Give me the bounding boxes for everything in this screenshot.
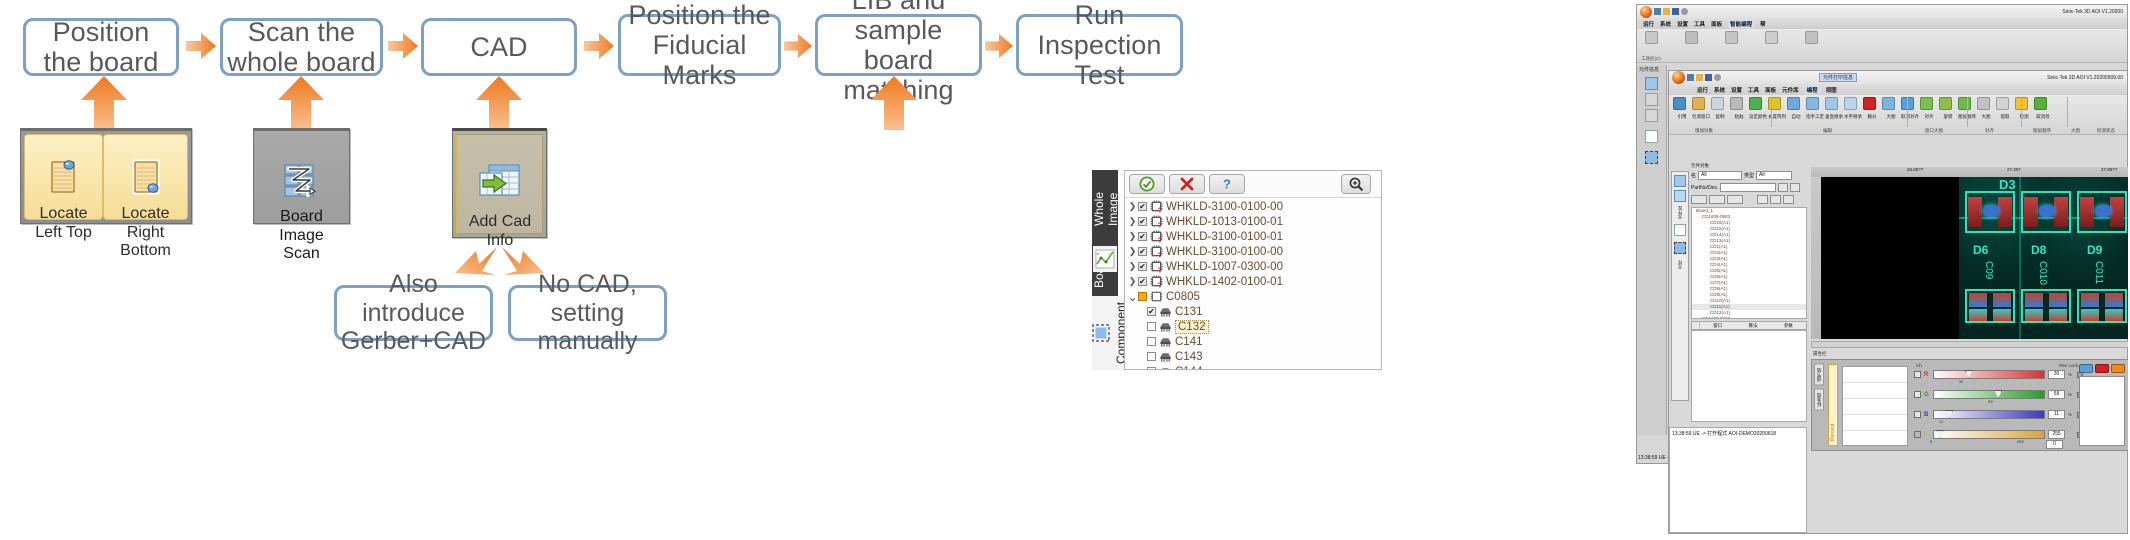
- locate-left-top-label: Locate Left Top: [35, 205, 92, 241]
- vtab-whole-image[interactable]: Whole Image: [1092, 170, 1120, 248]
- front-ribbon-label-2: 复制: [1711, 114, 1729, 120]
- ribbon-icon-back-3[interactable]: [1765, 31, 1778, 44]
- back-panel-icon-0[interactable]: [1645, 77, 1658, 90]
- reject-all-button[interactable]: [1169, 174, 1205, 194]
- note-pin-top-left-icon: [49, 141, 79, 200]
- rgb-channel-knob-label-G: 59: [1988, 399, 1992, 404]
- front-window-tab-chip[interactable]: 元件打印信息: [1819, 73, 1857, 82]
- color-panel-header-label: 属性栏: [1813, 351, 1827, 357]
- rgb-channel-unit-G: %: [2068, 392, 2074, 397]
- ribbon-separator-4: [2021, 97, 2022, 127]
- filter-label-0: 名: [1691, 172, 1696, 179]
- front-menu-item-2[interactable]: 设置: [1731, 86, 1742, 94]
- search-filter-icon[interactable]: [1790, 183, 1800, 192]
- pcb-label-c010: C010: [2037, 261, 2048, 285]
- rgb-channel-row-G: G59%: [1914, 390, 2083, 399]
- back-menu-item-3[interactable]: 工具: [1694, 20, 1705, 28]
- pcb-component-top-3: [2077, 191, 2127, 233]
- board-image-scan-panel: Board Image Scan: [253, 128, 350, 224]
- front-save-icon[interactable]: [1687, 74, 1694, 81]
- aoi-software-screenshot: Sinic-Tek 3D AOI V1.20200 运行 系统 设置 工具 面板…: [1636, 4, 2128, 534]
- front-ribbon-group-2: 窗口大图: [1925, 128, 1943, 134]
- settings-icon[interactable]: [1681, 8, 1688, 15]
- open-folder-icon[interactable]: [1663, 8, 1670, 15]
- front-component-tree[interactable]: Board_1 CD1608-0603 CD16(A1)CD15(A1)CD14…: [1691, 207, 1807, 319]
- rgb-channel-slider-I[interactable]: [1933, 430, 2045, 439]
- ribbon-icon-back-1[interactable]: [1685, 31, 1698, 44]
- front-strip-icon-component[interactable]: [1674, 242, 1686, 254]
- callout-no-cad-manual[interactable]: No CAD, setting manually: [508, 285, 667, 341]
- front-ribbon-icon-1[interactable]: [1692, 97, 1705, 110]
- back-menu-item-0[interactable]: 运行: [1643, 20, 1654, 28]
- ribbon-separator-1: [1771, 97, 1772, 127]
- front-zoomout-icon[interactable]: [1783, 195, 1794, 204]
- rgb-vtab-0[interactable]: 调节值: [1814, 364, 1824, 386]
- front-menu-item-3[interactable]: 工具: [1748, 86, 1759, 94]
- rgb-channel-slider-B[interactable]: [1933, 410, 2045, 419]
- svg-text:?: ?: [1158, 250, 1163, 258]
- svg-text:?: ?: [1158, 235, 1163, 243]
- table-header-1: 算法: [1735, 323, 1770, 329]
- partno-input[interactable]: [1720, 183, 1776, 192]
- image-view-ruler-left: [1811, 177, 1821, 339]
- flow-step-cad[interactable]: CAD: [421, 18, 577, 76]
- flow-step-run-inspection-test[interactable]: Run Inspection Test: [1016, 14, 1183, 76]
- image-view-hscrollbar[interactable]: [1811, 341, 2128, 348]
- front-filter-row-2: PartNo/Des.: [1691, 183, 1800, 192]
- rgb-channel-name-R: R: [1924, 372, 1930, 378]
- rgb-delete-button[interactable]: [2095, 364, 2109, 373]
- rgb-slider-knob-I[interactable]: [1936, 430, 1944, 438]
- front-log-box: 13:38:59 UE -> 打开程式 AOI-DEMO20200618: [1669, 427, 1807, 533]
- component-library-tree: ? ❯✔ ? WHKLD-3100-0100-00❯✔: [1124, 170, 1382, 370]
- rgb-percent-tab[interactable]: Percent: [1828, 364, 1838, 446]
- front-tree-group-1-label: CD1608-0603: [1702, 214, 1730, 219]
- pcb-component-top-2: [2021, 191, 2071, 233]
- callout-gerber-cad[interactable]: Also introduce Gerber+CAD: [334, 285, 493, 341]
- front-ribbon-group-1: 编辑: [1823, 128, 1832, 134]
- accept-all-button[interactable]: [1129, 174, 1165, 194]
- rgb-slider-knob-B[interactable]: [1945, 410, 1953, 418]
- front-window-product-title: Sinic-Tek 3D AOI V1.20200509.00: [2047, 75, 2123, 81]
- partno-label: PartNo/Des.: [1691, 185, 1718, 191]
- pcb-component-bottom-3: [2077, 289, 2127, 323]
- filter-select-1[interactable]: All: [1756, 171, 1792, 180]
- tree-row[interactable]: ❯✔ ? WHKLD-3100-0100-01: [1125, 229, 1381, 244]
- flow-step-position-the-board[interactable]: Position the board: [23, 18, 179, 76]
- front-window-ribbon: 引用包测窗口复制粘贴设定颜色长度阵列自动指手工定义垂直继承水平继承删分大图取消对…: [1669, 95, 2127, 135]
- rgb-right-buttons: [2079, 364, 2125, 373]
- front-ribbon-label-row: 引用包测窗口复制粘贴设定颜色长度阵列自动指手工定义垂直继承水平继承删分大图取消对…: [1673, 114, 2052, 120]
- callout-arrow-tree-panel: [871, 76, 917, 130]
- chip-unknown-icon: ?: [1150, 230, 1163, 243]
- tree-row[interactable]: ⌄ C0805: [1125, 289, 1381, 304]
- rgb-color-panel: 调节值 标准值 Percent Ch Rev Lock R30%30G59%59…: [1811, 359, 2128, 451]
- rgb-channel-knob-label-B: 11: [1939, 419, 1943, 424]
- chevron-right-icon[interactable]: ❯: [1127, 261, 1138, 272]
- callout-arrow-locate-panel: [81, 76, 127, 130]
- table-header-2: 参数: [1771, 323, 1806, 329]
- tree-row[interactable]: C143: [1125, 349, 1381, 364]
- callout-arrow-cad-panel: [476, 76, 522, 130]
- front-window-menubar: 运行 系统 设置 工具 面板 元件库 编程 视图: [1669, 84, 2127, 95]
- tree-row-label: WHKLD-1007-0300-00: [1166, 261, 1283, 273]
- grid-import-arrow-icon: [479, 145, 521, 208]
- front-ribbon-icon-0[interactable]: [1673, 97, 1686, 110]
- front-ribbon-label-17: 提取: [1996, 114, 2014, 120]
- tree-row-label: WHKLD-3100-0100-01: [1166, 231, 1283, 243]
- front-zoomin-icon[interactable]: [1770, 195, 1781, 204]
- front-ribbon-label-11: 大图: [1882, 114, 1900, 120]
- front-tree-group-2[interactable]: CC1608-0603: [1692, 316, 1806, 319]
- locate-right-bottom-button[interactable]: Locate Right Bottom: [103, 134, 188, 220]
- component-selection-icon: [1092, 324, 1110, 342]
- tree-row-label: WHKLD-1013-0100-01: [1166, 216, 1283, 228]
- back-window-left-panel: 元件信息: [1637, 65, 1667, 435]
- back-panel-label: 元件信息: [1637, 65, 1666, 74]
- front-ribbon-icon-6[interactable]: [1787, 97, 1800, 110]
- save-icon[interactable]: [1654, 8, 1661, 15]
- flow-step-lib-and-sample-board-matching[interactable]: LIB and sample board matching: [815, 14, 982, 76]
- chip-unknown-icon: ?: [1150, 260, 1163, 273]
- flow-arrow-4: [784, 33, 812, 59]
- pcb-component-top-1: [1965, 191, 2015, 233]
- front-ribbon-group-0: 增加对象: [1695, 128, 1713, 134]
- rgb-channel-row-B: B11%: [1914, 410, 2083, 419]
- svg-text:?: ?: [1158, 280, 1163, 288]
- front-ribbon-label-7: 指手工定义: [1806, 114, 1824, 120]
- tree-row[interactable]: C144: [1125, 364, 1381, 370]
- ribbon-icon-back-0[interactable]: [1645, 31, 1658, 44]
- front-ribbon-label-0: 引用: [1673, 114, 1691, 120]
- tree-row[interactable]: ✔ C131: [1125, 304, 1381, 319]
- flow-arrow-1: [186, 33, 216, 59]
- tree-toolbar: ?: [1125, 171, 1381, 198]
- vtab-whole-image-label: Whole Image: [1092, 176, 1120, 242]
- component-icon: [1159, 321, 1172, 333]
- tree-row-checkbox[interactable]: ✔: [1138, 247, 1147, 256]
- chevron-right-icon[interactable]: ❯: [1127, 231, 1138, 242]
- front-strip-tab-label-1: 元件库: [1677, 206, 1683, 220]
- back-panel-chart-icon[interactable]: [1645, 130, 1658, 143]
- tree-row-checkbox[interactable]: ✔: [1138, 202, 1147, 211]
- component-library-widget: Whole Image Board Component: [1092, 170, 1382, 370]
- rgb-channel-unit-B: %: [2068, 412, 2074, 417]
- ruler-tick-1: 27.30?: [2007, 167, 2021, 172]
- pcb-label-d3: D3: [1999, 177, 2016, 192]
- locate-board-corners-panel: Locate Left Top Locate Right Bottom: [20, 128, 192, 224]
- rgb-channel-slider-G[interactable]: [1933, 390, 2045, 399]
- rgb-channel-row-R: R30%: [1914, 370, 2083, 379]
- front-strip-tab-label-2: 元件: [1677, 260, 1683, 269]
- front-menu-item-6-selected[interactable]: 编程: [1805, 86, 1820, 94]
- pcb-image[interactable]: D3 D6 D8 D9 C09 C010 C011: [1959, 177, 2128, 339]
- front-filter-row-1: 名 All 类型 All: [1691, 171, 1792, 180]
- pcb-label-d9: D9: [2087, 243, 2102, 257]
- front-strip-icon-chart[interactable]: [1674, 224, 1686, 236]
- front-menu-item-5[interactable]: 元件库: [1782, 86, 1799, 94]
- rgb-channel-value-I[interactable]: 255: [2048, 430, 2065, 439]
- component-icon: [1159, 366, 1172, 371]
- rgb-add-button[interactable]: [2111, 364, 2125, 373]
- tree-row-label: C143: [1175, 351, 1203, 363]
- add-cad-info-panel: Add Cad Info: [452, 128, 547, 238]
- filter-select-0[interactable]: All: [1698, 171, 1742, 180]
- front-ribbon-label-18: 检测: [2015, 114, 2033, 120]
- locate-left-top-button[interactable]: Locate Left Top: [24, 134, 103, 220]
- chip-unknown-icon: ?: [1150, 275, 1163, 288]
- back-ribbon-group-label: 工具栏(C): [1641, 56, 1661, 62]
- tree-row-checkbox[interactable]: [1147, 367, 1156, 370]
- chevron-down-icon[interactable]: ⌄: [1127, 294, 1138, 300]
- front-ribbon-icon-15[interactable]: [1958, 97, 1971, 110]
- tree-row-label: WHKLD-3100-0100-00: [1166, 201, 1283, 213]
- ribbon-separator-2: [1907, 97, 1908, 127]
- svg-text:?: ?: [1223, 177, 1231, 192]
- tree-row[interactable]: ❯✔ ? WHKLD-3100-0100-00: [1125, 244, 1381, 259]
- rgb-panel-vtabs: 调节值 标准值: [1814, 364, 1826, 410]
- save-all-icon[interactable]: [1672, 8, 1679, 15]
- front-ribbon-label-4: 设定颜色: [1749, 114, 1767, 120]
- front-menu-item-4[interactable]: 面板: [1765, 86, 1776, 94]
- flow-arrow-5: [985, 33, 1013, 59]
- pcb-label-c09: C09: [1983, 261, 1994, 279]
- front-ribbon-icon-14[interactable]: [1939, 97, 1952, 110]
- chip-unknown-icon: ?: [1150, 200, 1163, 213]
- front-ribbon-group-5: 大图: [2071, 128, 2080, 134]
- rgb-channel-unit-R: %: [2068, 372, 2074, 377]
- front-tree-toolbar: [1691, 195, 1794, 204]
- front-ribbon-icon-17[interactable]: [1996, 97, 2009, 110]
- front-left-tabstrip: 元件库 元件: [1671, 171, 1689, 401]
- unknown-help-button[interactable]: ?: [1209, 174, 1245, 194]
- front-help-icon[interactable]: [1727, 195, 1743, 204]
- front-panel-header-label: 元件对象: [1691, 163, 1709, 169]
- ribbon-icon-back-4[interactable]: [1805, 31, 1818, 44]
- front-menu-item-7[interactable]: 视图: [1826, 86, 1837, 94]
- filter-label-1: 类型: [1744, 172, 1754, 179]
- rgb-channel-name-B: B: [1924, 412, 1930, 418]
- tree-row-label: C132: [1175, 320, 1209, 334]
- tree-row-label: C144: [1175, 366, 1203, 371]
- front-table-body[interactable]: [1691, 330, 1807, 422]
- rgb-channel-checkbox-R[interactable]: [1914, 371, 1921, 378]
- ribbon-separator-5: [2067, 97, 2068, 127]
- front-ribbon-label-14: 旋转: [1939, 114, 1957, 120]
- tree-row[interactable]: C141: [1125, 334, 1381, 349]
- flow-step-scan-the-whole-board[interactable]: Scan the whole board: [220, 18, 383, 76]
- front-save-all-icon[interactable]: [1705, 74, 1712, 81]
- front-menu-item-0[interactable]: 运行: [1697, 86, 1708, 94]
- vtab-component[interactable]: Component: [1092, 296, 1128, 370]
- front-app-logo-icon: [1672, 71, 1685, 84]
- front-ribbon-label-13: 对齐: [1920, 114, 1938, 120]
- tree-row-checkbox[interactable]: ✔: [1138, 232, 1147, 241]
- reset-filter-icon[interactable]: [1778, 183, 1788, 192]
- rgb-preset-list[interactable]: [2079, 376, 2125, 446]
- rgb-channel-value-R[interactable]: 30: [2048, 370, 2065, 379]
- front-ribbon-group-4: 图层顺序: [2033, 128, 2051, 134]
- back-menu-item-6[interactable]: 帮: [1760, 20, 1766, 28]
- tree-row-label: WHKLD-1402-0100-01: [1166, 276, 1283, 288]
- front-ribbon-label-8: 垂直继承: [1825, 114, 1843, 120]
- front-ribbon-icon-7[interactable]: [1806, 97, 1819, 110]
- rgb-revlock-header: Rev Lock: [2059, 363, 2078, 368]
- zigzag-scan-icon: [284, 146, 320, 203]
- front-ribbon-label-12: 取消对齐: [1901, 114, 1919, 120]
- pcb-label-d8: D8: [2031, 243, 2046, 257]
- back-menu-item-5-selected[interactable]: 智能编程: [1728, 20, 1754, 28]
- locate-right-bottom-label: Locate Right Bottom: [110, 205, 181, 260]
- rgb-channel-slider-R[interactable]: [1933, 370, 2045, 379]
- front-ribbon-label-3: 粘贴: [1730, 114, 1748, 120]
- front-ribbon-label-6: 自动: [1787, 114, 1805, 120]
- front-ribbon-group-6: 检测状态: [2097, 128, 2115, 134]
- front-ribbon-icon-8[interactable]: [1825, 97, 1838, 110]
- front-ribbon-icon-row: [1673, 97, 2052, 110]
- rgb-channel-checkbox-I[interactable]: [1914, 431, 1921, 438]
- rgb-channel-value-G[interactable]: 59: [2048, 390, 2065, 399]
- front-menu-item-1[interactable]: 系统: [1714, 86, 1725, 94]
- rgb-channel-knob-label-R: 30: [1959, 379, 1963, 384]
- rgb-vtab-1[interactable]: 标准值: [1814, 389, 1824, 411]
- tree-row[interactable]: ❯✔ ? WHKLD-1013-0100-01: [1125, 214, 1381, 229]
- front-ribbon-icon-3[interactable]: [1730, 97, 1743, 110]
- table-header-0: 窗口: [1700, 323, 1735, 329]
- front-ribbon-icon-2[interactable]: [1711, 97, 1724, 110]
- callout-arrow-scan-panel: [278, 76, 324, 130]
- chevron-right-icon[interactable]: ❯: [1127, 201, 1138, 212]
- svg-text:?: ?: [1158, 205, 1163, 213]
- front-settings-icon[interactable]: [1714, 74, 1721, 81]
- ruler-tick-0: 26.80??: [1907, 167, 1923, 172]
- tree-row[interactable]: ❯✔ ? WHKLD-1402-0100-01: [1125, 274, 1381, 289]
- flow-arrow-2: [388, 33, 418, 59]
- front-strip-icon-grid[interactable]: [1674, 175, 1686, 187]
- front-accept-icon[interactable]: [1691, 195, 1707, 204]
- tree-strip-chart-icon[interactable]: [1093, 246, 1117, 272]
- rgb-slider-knob-R[interactable]: [1965, 370, 1973, 378]
- back-menu-item-2[interactable]: 设置: [1677, 20, 1688, 28]
- add-cad-info-button[interactable]: Add Cad Info: [456, 134, 543, 234]
- tree-row-checkbox[interactable]: [1147, 352, 1156, 361]
- tree-rows: ❯✔ ? WHKLD-3100-0100-00❯✔ ? WHKLD-1013-0…: [1125, 198, 1381, 370]
- front-tree-items: CD16(A1)CD15(A1)CD14(A1)CD13(A1)CD1(A1)C…: [1692, 220, 1806, 319]
- svg-text:?: ?: [1158, 265, 1163, 273]
- pcb-label-d6: D6: [1973, 243, 1988, 257]
- diagram-canvas: Position the board Scan the whole board …: [0, 0, 2130, 540]
- front-log-text: 13:38:59 UE -> 打开程式 AOI-DEMO20200618: [1672, 431, 1776, 437]
- rgb-channel-value2-I[interactable]: 0: [2046, 440, 2063, 449]
- front-ribbon-icon-16[interactable]: [1977, 97, 1990, 110]
- board-image-scan-label: Board Image Scan: [263, 208, 340, 263]
- component-icon: [1159, 306, 1172, 318]
- tree-row-label: C141: [1175, 336, 1203, 348]
- rgb-channel-value-B[interactable]: 11: [2048, 410, 2065, 419]
- component-icon: [1159, 336, 1172, 348]
- back-window-ribbon: 工具栏(C): [1637, 29, 2127, 63]
- svg-text:?: ?: [1158, 220, 1163, 228]
- note-pin-bottom-right-icon: [131, 141, 161, 200]
- tree-row-checkbox[interactable]: ✔: [1138, 277, 1147, 286]
- ruler-tick-2: 27.80??: [2101, 167, 2117, 172]
- pcb-label-c011: C011: [2093, 261, 2104, 284]
- front-view-icon[interactable]: [1757, 195, 1768, 204]
- rgb-channel-header: Ch: [1916, 363, 1922, 368]
- rgb-refresh-button[interactable]: [2079, 364, 2093, 373]
- tree-row-checkbox[interactable]: ✔: [1138, 262, 1147, 271]
- component-icon: [1159, 351, 1172, 363]
- tree-row[interactable]: ❯✔ ? WHKLD-3100-0100-00: [1125, 199, 1381, 214]
- tree-row-label: C131: [1175, 306, 1203, 318]
- chevron-right-icon[interactable]: ❯: [1127, 276, 1138, 287]
- ribbon-icon-back-2[interactable]: [1725, 31, 1738, 44]
- tree-row-checkbox[interactable]: [1147, 322, 1156, 331]
- front-ribbon-label-16: 大图: [1977, 114, 1995, 120]
- back-window-status: 13:38:59 UE ->: [1638, 455, 1672, 461]
- front-ribbon-label-19: 取消检: [2034, 114, 2052, 120]
- back-panel-icon-2[interactable]: [1645, 109, 1658, 122]
- board-image-scan-button[interactable]: Board Image Scan: [257, 134, 346, 220]
- front-ribbon-icon-4[interactable]: [1749, 97, 1762, 110]
- front-window-titlebar: 元件打印信息 Sinic-Tek 3D AOI V1.20200509.00: [1669, 71, 2127, 84]
- chevron-right-icon[interactable]: ❯: [1127, 216, 1138, 227]
- tree-row[interactable]: ❯✔ ? WHKLD-1007-0300-00: [1125, 259, 1381, 274]
- rgb-channel-range-min-I: 0: [1930, 439, 1932, 444]
- tree-row-checkbox[interactable]: ✔: [1138, 217, 1147, 226]
- front-window: 元件打印信息 Sinic-Tek 3D AOI V1.20200509.00 运…: [1668, 70, 2128, 534]
- back-menu-item-1[interactable]: 系统: [1660, 20, 1671, 28]
- front-ribbon-group-3: 对齐: [1985, 128, 1994, 134]
- chevron-right-icon[interactable]: ❯: [1127, 246, 1138, 257]
- back-panel-icon-1[interactable]: [1645, 93, 1658, 106]
- pcb-component-bottom-2: [2021, 289, 2071, 323]
- back-panel-component-icon[interactable]: [1645, 151, 1658, 164]
- rgb-channel-row-I: I255: [1914, 430, 2092, 439]
- front-ribbon-icon-10[interactable]: [1863, 97, 1876, 110]
- tree-row-label: WHKLD-3100-0100-00: [1166, 246, 1283, 258]
- tree-row-label: C0805: [1166, 291, 1200, 303]
- back-window-titlebar: Sinic-Tek 3D AOI V1.20200: [1637, 5, 2127, 18]
- front-reject-icon[interactable]: [1709, 195, 1725, 204]
- tree-row[interactable]: C132: [1125, 319, 1381, 334]
- tree-row-checkbox[interactable]: [1147, 337, 1156, 346]
- flow-arrow-3: [584, 33, 614, 59]
- add-cad-info-label: Add Cad Info: [469, 213, 531, 249]
- front-ribbon-icon-5[interactable]: [1768, 97, 1781, 110]
- rgb-preview-grid: [1842, 366, 1908, 446]
- zoom-search-button[interactable]: [1341, 174, 1371, 194]
- tree-row-checkbox[interactable]: ✔: [1147, 307, 1156, 316]
- rgb-slider-knob-G[interactable]: [1994, 390, 2002, 398]
- rgb-channel-name-G: G: [1924, 392, 1930, 398]
- front-ribbon-icon-11[interactable]: [1882, 97, 1895, 110]
- back-menu-item-4[interactable]: 面板: [1711, 20, 1722, 28]
- chip-unknown-icon: ?: [1150, 215, 1163, 228]
- front-strip-icon-grid2[interactable]: [1674, 190, 1686, 202]
- front-ribbon-icon-9[interactable]: [1844, 97, 1857, 110]
- rgb-channel-checkbox-B[interactable]: [1914, 411, 1921, 418]
- image-view-black-area[interactable]: D3 D6 D8 D9 C09 C010 C011: [1821, 177, 2128, 339]
- flow-step-position-the-fiducial-marks[interactable]: Position the Fiducial Marks: [618, 14, 781, 76]
- rgb-channel-checkbox-G[interactable]: [1914, 391, 1921, 398]
- front-ribbon-icon-19[interactable]: [2034, 97, 2047, 110]
- app-logo-icon: [1640, 6, 1652, 18]
- front-ribbon-icon-13[interactable]: [1920, 97, 1933, 110]
- rgb-channel-range-max-I: 255: [2017, 439, 2024, 444]
- front-open-folder-icon[interactable]: [1696, 74, 1703, 81]
- tree-row-checkbox[interactable]: [1138, 292, 1147, 301]
